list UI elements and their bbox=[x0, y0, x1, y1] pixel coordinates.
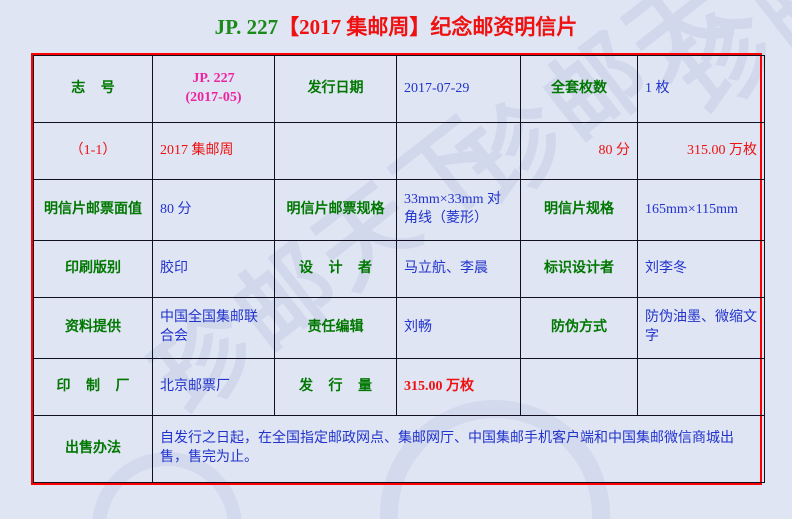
cell-label-logo-designer: 标识设计者 bbox=[521, 241, 638, 298]
cell-value-sale-method: 自发行之日起，在全国指定邮政网点、集邮网厅、中国集邮手机客户端和中国集邮微信商城… bbox=[153, 416, 765, 483]
zhihao-code: JP. 227(2017-05) bbox=[160, 70, 267, 108]
cell-label-zhihao: 志 号 bbox=[34, 56, 153, 123]
cell-value-anticounterfeit: 防伪油墨、微缩文字 bbox=[638, 298, 765, 359]
cell-value-zhihao: JP. 227(2017-05) bbox=[153, 56, 275, 123]
page-title-code: JP. 227 bbox=[215, 15, 278, 39]
cell-empty bbox=[638, 359, 765, 416]
cell-value-item-denomination: 80 分 bbox=[521, 123, 638, 180]
cell-label-set-count: 全套枚数 bbox=[521, 56, 638, 123]
cell-value-item-quantity: 315.00 万枚 bbox=[638, 123, 765, 180]
cell-value-designer: 马立航、李晨 bbox=[397, 241, 521, 298]
table-row: 资料提供 中国全国集邮联合会 责任编辑 刘畅 防伪方式 防伪油墨、微缩文字 bbox=[34, 298, 765, 359]
table-row: 出售办法 自发行之日起，在全国指定邮政网点、集邮网厅、中国集邮手机客户端和中国集… bbox=[34, 416, 765, 483]
stamp-info-table: 志 号 JP. 227(2017-05) 发行日期 2017-07-29 全套枚… bbox=[31, 53, 762, 485]
cell-value-print-type: 胶印 bbox=[153, 241, 275, 298]
cell-value-item-index: （1-1） bbox=[34, 123, 153, 180]
cell-empty bbox=[521, 359, 638, 416]
table-row: （1-1） 2017 集邮周 80 分 315.00 万枚 bbox=[34, 123, 765, 180]
cell-value-stamp-face-value: 80 分 bbox=[153, 180, 275, 241]
cell-label-sale-method: 出售办法 bbox=[34, 416, 153, 483]
cell-value-printer: 北京邮票厂 bbox=[153, 359, 275, 416]
cell-label-postcard-size: 明信片规格 bbox=[521, 180, 638, 241]
cell-empty bbox=[397, 123, 521, 180]
cell-label-stamp-face-value: 明信片邮票面值 bbox=[34, 180, 153, 241]
cell-value-set-count: 1 枚 bbox=[638, 56, 765, 123]
cell-value-material-provider: 中国全国集邮联合会 bbox=[153, 298, 275, 359]
table-row: 明信片邮票面值 80 分 明信片邮票规格 33mm×33mm 对角线（菱形） 明… bbox=[34, 180, 765, 241]
cell-label-print-type: 印刷版别 bbox=[34, 241, 153, 298]
cell-empty bbox=[275, 123, 397, 180]
cell-label-designer: 设 计 者 bbox=[275, 241, 397, 298]
cell-value-logo-designer: 刘李冬 bbox=[638, 241, 765, 298]
cell-value-issue-date: 2017-07-29 bbox=[397, 56, 521, 123]
cell-value-stamp-size: 33mm×33mm 对角线（菱形） bbox=[397, 180, 521, 241]
cell-value-print-run: 315.00 万枚 bbox=[397, 359, 521, 416]
cell-label-printer: 印 制 厂 bbox=[34, 359, 153, 416]
cell-value-item-name: 2017 集邮周 bbox=[153, 123, 275, 180]
cell-label-issue-date: 发行日期 bbox=[275, 56, 397, 123]
page-title-main: 【2017 集邮周】纪念邮资明信片 bbox=[278, 15, 577, 39]
table-row: 印刷版别 胶印 设 计 者 马立航、李晨 标识设计者 刘李冬 bbox=[34, 241, 765, 298]
cell-label-anticounterfeit: 防伪方式 bbox=[521, 298, 638, 359]
cell-label-material-provider: 资料提供 bbox=[34, 298, 153, 359]
cell-value-postcard-size: 165mm×115mm bbox=[638, 180, 765, 241]
cell-label-editor: 责任编辑 bbox=[275, 298, 397, 359]
page-title: JP. 227【2017 集邮周】纪念邮资明信片 bbox=[0, 0, 792, 40]
cell-value-editor: 刘畅 bbox=[397, 298, 521, 359]
table-row: 印 制 厂 北京邮票厂 发 行 量 315.00 万枚 bbox=[34, 359, 765, 416]
table-row: 志 号 JP. 227(2017-05) 发行日期 2017-07-29 全套枚… bbox=[34, 56, 765, 123]
cell-label-print-run: 发 行 量 bbox=[275, 359, 397, 416]
cell-label-stamp-size: 明信片邮票规格 bbox=[275, 180, 397, 241]
